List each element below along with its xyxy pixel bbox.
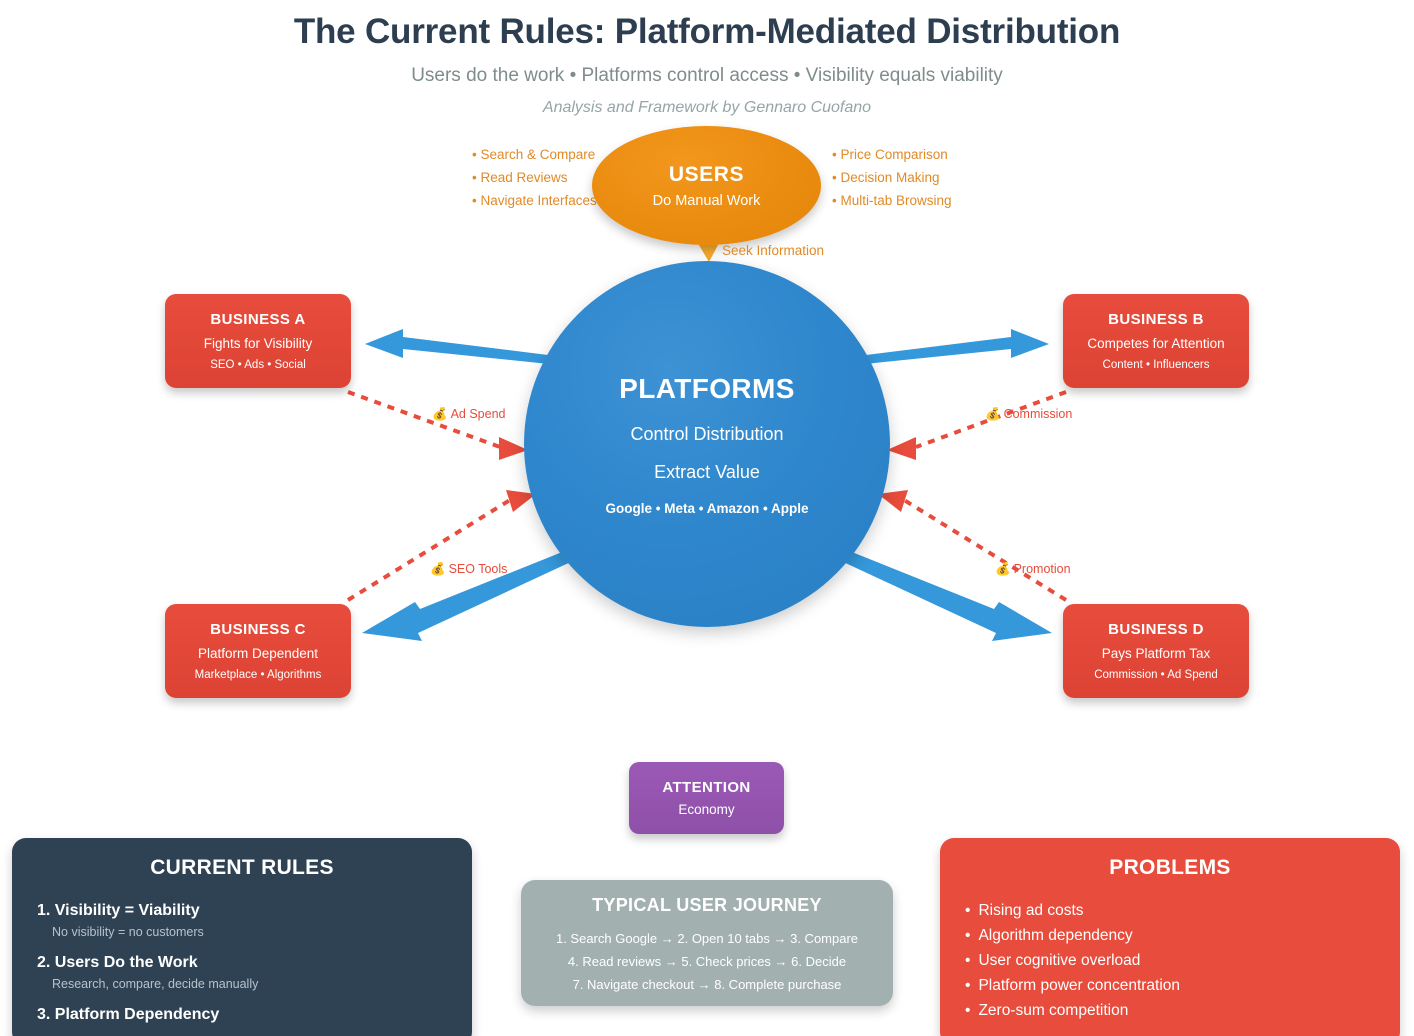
- business-subtitle: Fights for Visibility: [204, 336, 313, 351]
- business-tags: Content • Influencers: [1103, 359, 1210, 371]
- users-node-title: USERS: [669, 163, 744, 187]
- problem-item: User cognitive overload: [965, 952, 1400, 970]
- money-bag-icon: 💰: [432, 407, 448, 421]
- user-journey-panel: TYPICAL USER JOURNEY 1. Search Google → …: [521, 880, 893, 1006]
- platforms-node[interactable]: PLATFORMS Control Distribution Extract V…: [524, 261, 890, 627]
- current-rules-list: 1. Visibility = Viability No visibility …: [12, 902, 472, 1024]
- business-node-d[interactable]: BUSINESS D Pays Platform Tax Commission …: [1063, 604, 1249, 698]
- business-node-b[interactable]: BUSINESS B Competes for Attention Conten…: [1063, 294, 1249, 388]
- current-rules-panel: CURRENT RULES 1. Visibility = Viability …: [12, 838, 472, 1036]
- business-subtitle: Pays Platform Tax: [1102, 646, 1211, 661]
- platforms-node-line1: Control Distribution: [630, 424, 783, 445]
- business-node-a[interactable]: BUSINESS A Fights for Visibility SEO • A…: [165, 294, 351, 388]
- money-flow-commission: 💰Commission: [985, 407, 1072, 422]
- rule-main-text: 1. Visibility = Viability: [37, 902, 472, 920]
- seek-information-label: Seek Information: [722, 243, 824, 258]
- money-flow-label: Ad Spend: [451, 407, 506, 421]
- rule-main-text: 3. Platform Dependency: [37, 1006, 472, 1024]
- panel-title: PROBLEMS: [940, 838, 1400, 880]
- platforms-node-brands: Google • Meta • Amazon • Apple: [606, 501, 809, 516]
- problem-item: Rising ad costs: [965, 902, 1400, 920]
- user-activity-item: • Multi-tab Browsing: [832, 189, 952, 212]
- user-activity-item: • Search & Compare: [472, 143, 597, 166]
- user-activity-item: • Read Reviews: [472, 166, 597, 189]
- business-node-c[interactable]: BUSINESS C Platform Dependent Marketplac…: [165, 604, 351, 698]
- business-tags: Commission • Ad Spend: [1094, 669, 1218, 681]
- problem-item: Algorithm dependency: [965, 927, 1400, 945]
- panel-title: CURRENT RULES: [12, 838, 472, 880]
- panel-title: TYPICAL USER JOURNEY: [521, 880, 893, 916]
- journey-step: 4. Read reviews → 5. Check prices → 6. D…: [521, 954, 893, 969]
- users-node-subtitle: Do Manual Work: [653, 193, 761, 209]
- business-tags: SEO • Ads • Social: [210, 359, 306, 371]
- business-tags: Marketplace • Algorithms: [195, 669, 322, 681]
- payment-arrow-b: [887, 437, 916, 460]
- users-right-activities: • Price Comparison • Decision Making • M…: [832, 143, 952, 212]
- platforms-node-line2: Extract Value: [654, 462, 760, 483]
- users-left-activities: • Search & Compare • Read Reviews • Navi…: [472, 143, 597, 212]
- attention-node-subtitle: Economy: [678, 802, 734, 817]
- problems-list: Rising ad costs Algorithm dependency Use…: [940, 902, 1400, 1020]
- money-flow-promotion: 💰Promotion: [995, 562, 1071, 577]
- business-title: BUSINESS D: [1108, 621, 1204, 638]
- money-bag-icon: 💰: [985, 407, 1001, 421]
- money-flow-ad-spend: 💰Ad Spend: [432, 407, 506, 422]
- business-subtitle: Competes for Attention: [1087, 336, 1224, 351]
- attention-economy-node[interactable]: ATTENTION Economy: [629, 762, 784, 834]
- business-subtitle: Platform Dependent: [198, 646, 318, 661]
- diagram-canvas: The Current Rules: Platform-Mediated Dis…: [0, 0, 1414, 1036]
- attention-node-title: ATTENTION: [662, 779, 750, 796]
- platforms-node-title: PLATFORMS: [619, 373, 795, 405]
- rule-sub-text: Research, compare, decide manually: [52, 977, 472, 991]
- journey-step: 1. Search Google → 2. Open 10 tabs → 3. …: [521, 931, 893, 946]
- problems-panel: PROBLEMS Rising ad costs Algorithm depen…: [940, 838, 1400, 1036]
- user-activity-item: • Price Comparison: [832, 143, 952, 166]
- users-node[interactable]: USERS Do Manual Work: [592, 126, 821, 245]
- flow-platform-to-business-a: [365, 329, 549, 364]
- rule-item: 1. Visibility = Viability No visibility …: [12, 902, 472, 939]
- money-flow-seo-tools: 💰SEO Tools: [430, 562, 507, 577]
- rule-main-text: 2. Users Do the Work: [37, 954, 472, 972]
- money-flow-label: Promotion: [1014, 562, 1071, 576]
- money-flow-label: SEO Tools: [449, 562, 508, 576]
- business-title: BUSINESS C: [210, 621, 306, 638]
- business-title: BUSINESS B: [1108, 311, 1204, 328]
- problem-item: Zero-sum competition: [965, 1002, 1400, 1020]
- rule-item: 3. Platform Dependency: [12, 1006, 472, 1024]
- problem-item: Platform power concentration: [965, 977, 1400, 995]
- rule-sub-text: No visibility = no customers: [52, 925, 472, 939]
- flow-platform-to-business-b: [865, 329, 1049, 364]
- money-bag-icon: 💰: [995, 562, 1011, 576]
- rule-item: 2. Users Do the Work Research, compare, …: [12, 954, 472, 991]
- journey-step: 7. Navigate checkout → 8. Complete purch…: [521, 977, 893, 992]
- user-activity-item: • Decision Making: [832, 166, 952, 189]
- money-flow-label: Commission: [1004, 407, 1073, 421]
- money-bag-icon: 💰: [430, 562, 446, 576]
- user-activity-item: • Navigate Interfaces: [472, 189, 597, 212]
- user-journey-steps: 1. Search Google → 2. Open 10 tabs → 3. …: [521, 931, 893, 992]
- business-title: BUSINESS A: [210, 311, 305, 328]
